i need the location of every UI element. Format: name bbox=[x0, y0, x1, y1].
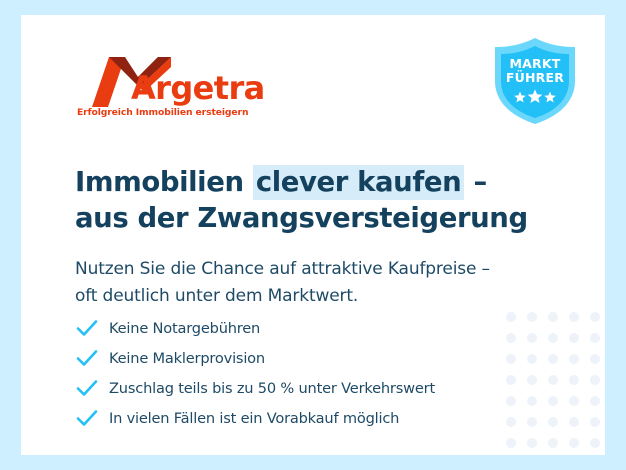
grid-dot bbox=[527, 312, 537, 322]
grid-dot bbox=[569, 333, 579, 343]
headline-line-1: Immobilien clever kaufen – bbox=[75, 165, 545, 200]
badge-stars bbox=[489, 89, 581, 108]
content-card: Argetra Erfolgreich Immobilien ersteiger… bbox=[21, 15, 605, 455]
promo-banner: Argetra Erfolgreich Immobilien ersteiger… bbox=[0, 0, 626, 470]
grid-dot bbox=[548, 312, 558, 322]
list-item-label: Zuschlag teils bis zu 50 % unter Verkehr… bbox=[109, 380, 435, 397]
grid-dot bbox=[548, 375, 558, 385]
subheading-line-2: oft deutlich unter dem Marktwert. bbox=[75, 283, 555, 310]
grid-dot bbox=[590, 417, 600, 427]
grid-dot bbox=[548, 396, 558, 406]
list-item: Keine Notargebühren bbox=[75, 313, 515, 343]
grid-dot bbox=[590, 396, 600, 406]
badge-line-1: MARKT bbox=[489, 57, 581, 71]
subheading: Nutzen Sie die Chance auf attraktive Kau… bbox=[75, 256, 555, 310]
grid-dot bbox=[548, 354, 558, 364]
check-icon bbox=[75, 378, 101, 398]
grid-dot bbox=[569, 312, 579, 322]
grid-dot bbox=[548, 417, 558, 427]
grid-dot bbox=[569, 417, 579, 427]
headline-suffix: – bbox=[464, 166, 487, 198]
argetra-logo[interactable]: Argetra Erfolgreich Immobilien ersteiger… bbox=[76, 55, 276, 127]
subheading-line-1: Nutzen Sie die Chance auf attraktive Kau… bbox=[75, 256, 555, 283]
grid-dot bbox=[527, 438, 537, 448]
grid-dot bbox=[569, 396, 579, 406]
grid-dot bbox=[527, 354, 537, 364]
grid-dot bbox=[569, 438, 579, 448]
benefits-list: Keine Notargebühren Keine Maklerprovisio… bbox=[75, 313, 515, 433]
list-item: In vielen Fällen ist ein Vorabkauf mögli… bbox=[75, 403, 515, 433]
grid-dot bbox=[569, 354, 579, 364]
logo-wordmark: Argetra bbox=[131, 72, 265, 104]
market-leader-badge: MARKT FÜHRER bbox=[489, 35, 581, 127]
logo-tagline: Erfolgreich Immobilien ersteigern bbox=[77, 107, 248, 118]
badge-line-2: FÜHRER bbox=[489, 71, 581, 85]
list-item-label: Keine Notargebühren bbox=[109, 320, 260, 337]
list-item: Zuschlag teils bis zu 50 % unter Verkehr… bbox=[75, 373, 515, 403]
grid-dot bbox=[569, 375, 579, 385]
grid-dot bbox=[506, 438, 516, 448]
grid-dot bbox=[548, 438, 558, 448]
check-icon bbox=[75, 408, 101, 428]
grid-dot bbox=[590, 312, 600, 322]
grid-dot bbox=[590, 354, 600, 364]
page-title: Immobilien clever kaufen – aus der Zwang… bbox=[75, 165, 545, 235]
grid-dot bbox=[590, 375, 600, 385]
list-item-label: Keine Maklerprovision bbox=[109, 350, 265, 367]
grid-dot bbox=[590, 438, 600, 448]
dot-grid-decoration bbox=[501, 307, 605, 455]
three-stars-icon bbox=[512, 89, 558, 103]
headline-prefix: Immobilien bbox=[75, 166, 253, 198]
headline-line-2: aus der Zwangsversteigerung bbox=[75, 201, 545, 236]
badge-text-block: MARKT FÜHRER bbox=[489, 57, 581, 84]
grid-dot bbox=[548, 333, 558, 343]
headline-highlight: clever kaufen bbox=[253, 165, 465, 200]
grid-dot bbox=[527, 396, 537, 406]
check-icon bbox=[75, 318, 101, 338]
grid-dot bbox=[527, 375, 537, 385]
grid-dot bbox=[527, 417, 537, 427]
list-item-label: In vielen Fällen ist ein Vorabkauf mögli… bbox=[109, 410, 399, 427]
grid-dot bbox=[527, 333, 537, 343]
list-item: Keine Maklerprovision bbox=[75, 343, 515, 373]
grid-dot bbox=[590, 333, 600, 343]
check-icon bbox=[75, 348, 101, 368]
